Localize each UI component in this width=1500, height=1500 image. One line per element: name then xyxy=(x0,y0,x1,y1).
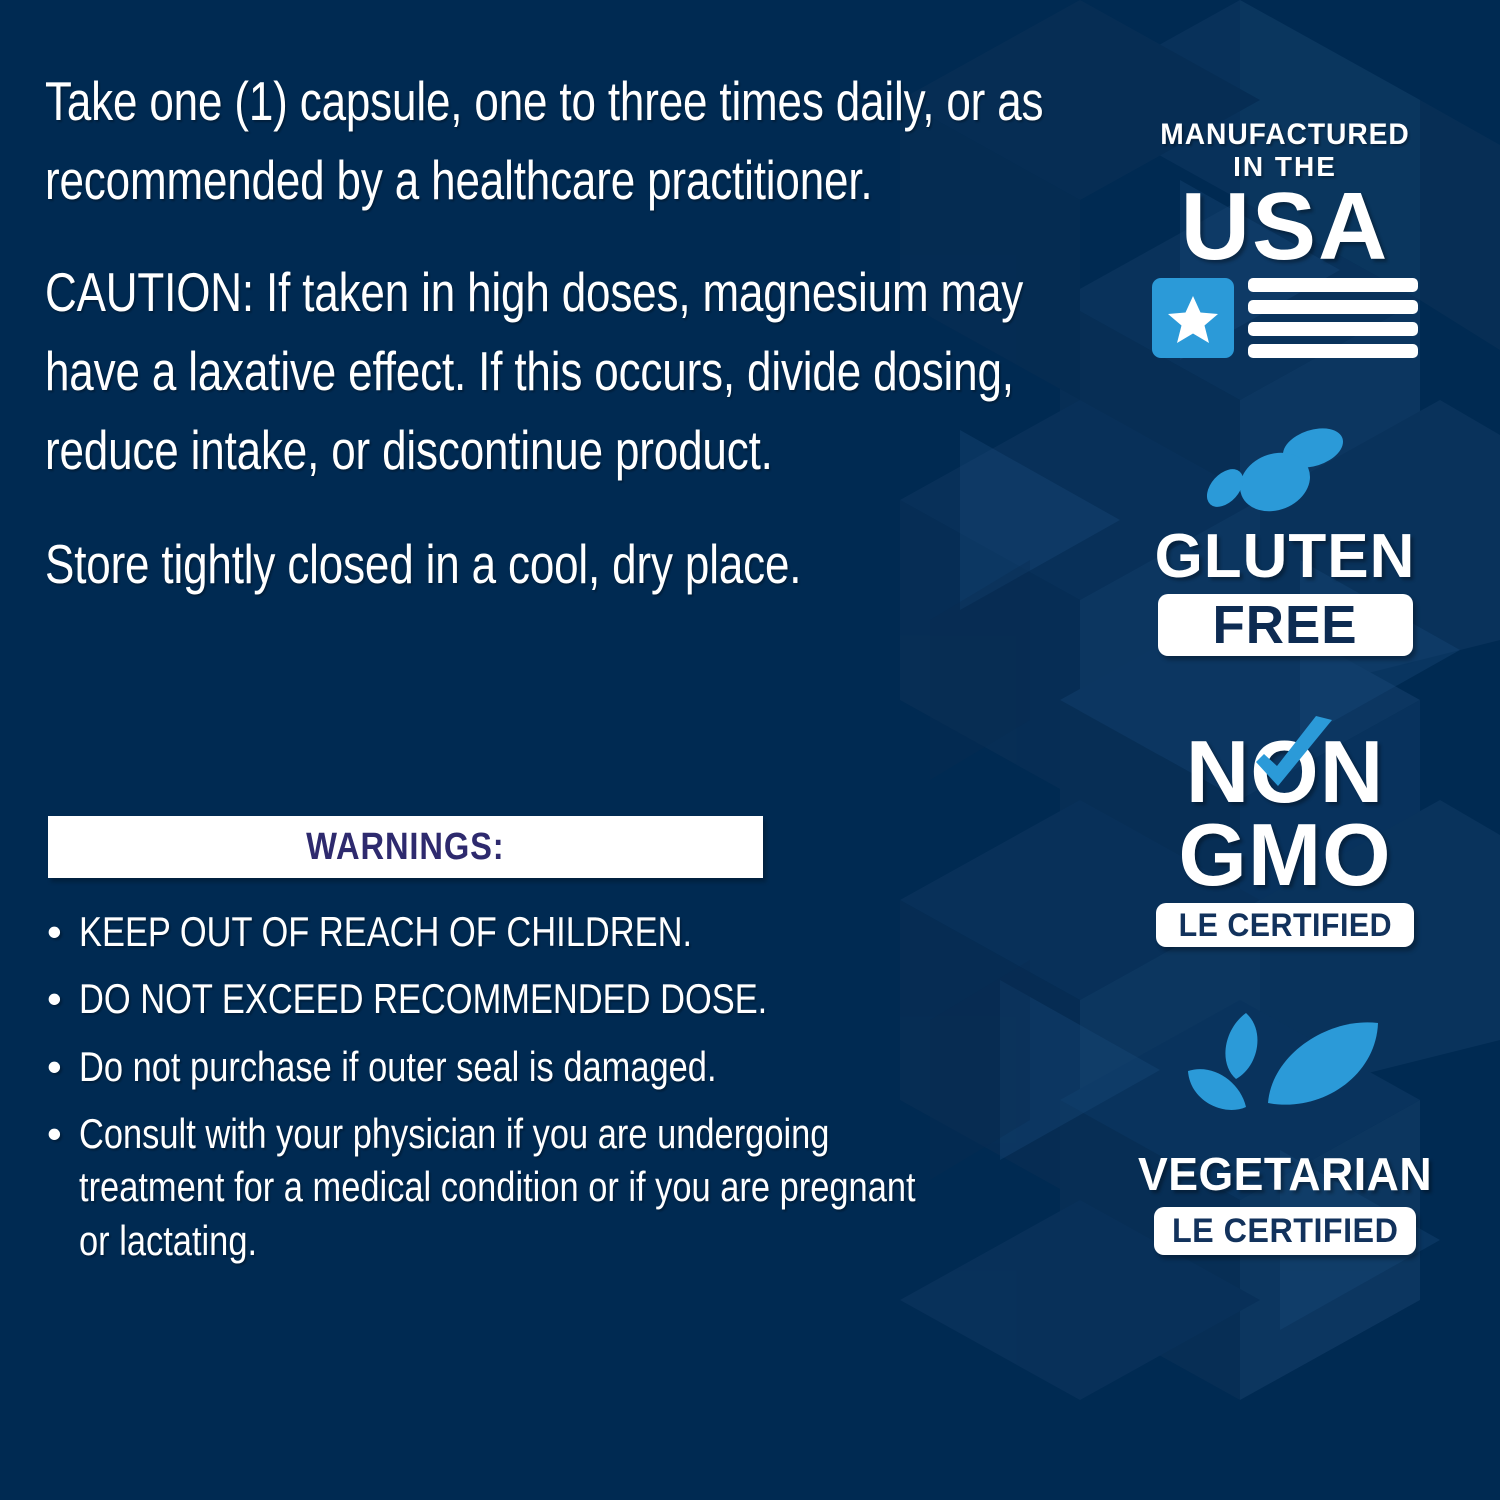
non-gmo-pill: LE CERTIFIED xyxy=(1156,903,1414,947)
vegetarian-pill-label: LE CERTIFIED xyxy=(1172,1214,1398,1248)
badge-vegetarian: VEGETARIAN LE CERTIFIED xyxy=(1120,1009,1450,1255)
list-item: • KEEP OUT OF REACH OF CHILDREN. xyxy=(45,905,945,958)
vegetarian-line1: VEGETARIAN xyxy=(1125,1151,1445,1197)
warning-text: DO NOT EXCEED RECOMMENDED DOSE. xyxy=(79,972,945,1025)
directions-text-column: Take one (1) capsule, one to three times… xyxy=(45,62,1045,604)
warning-text: KEEP OUT OF REACH OF CHILDREN. xyxy=(79,905,945,958)
leaves-icon xyxy=(1120,426,1450,520)
bullet-icon: • xyxy=(47,972,62,1025)
supplement-label-panel: Take one (1) capsule, one to three times… xyxy=(0,0,1500,1500)
warning-text: Do not purchase if outer seal is damaged… xyxy=(79,1040,945,1093)
bullet-icon: • xyxy=(47,1107,62,1160)
certification-badge-column: MANUFACTURED IN THE USA xyxy=(1120,120,1450,1255)
warnings-banner: WARNINGS: xyxy=(48,816,763,878)
badge-gluten-free: GLUTEN FREE xyxy=(1120,426,1450,656)
list-item: • Consult with your physician if you are… xyxy=(45,1107,945,1267)
badge-manufactured-in-usa: MANUFACTURED IN THE USA xyxy=(1120,120,1450,360)
warnings-banner-label: WARNINGS: xyxy=(306,826,504,869)
gluten-free-line1: GLUTEN xyxy=(1120,526,1450,588)
storage-paragraph: Store tightly closed in a cool, dry plac… xyxy=(45,525,1045,604)
vegetarian-pill: LE CERTIFIED xyxy=(1154,1207,1416,1255)
bullet-icon: • xyxy=(47,905,62,958)
us-flag-icon xyxy=(1120,276,1450,360)
gluten-free-pill: FREE xyxy=(1158,594,1413,656)
non-gmo-line2: GMO xyxy=(1120,813,1450,897)
warnings-list: • KEEP OUT OF REACH OF CHILDREN. • DO NO… xyxy=(45,905,945,1281)
usa-badge-line3: USA xyxy=(1120,181,1450,273)
bullet-icon: • xyxy=(47,1040,62,1093)
warning-text: Consult with your physician if you are u… xyxy=(79,1107,945,1267)
badge-spacer xyxy=(1120,947,1450,1009)
leaf-trio-icon xyxy=(1120,1009,1450,1141)
checkmark-icon xyxy=(1248,714,1340,806)
non-gmo-pill-label: LE CERTIFIED xyxy=(1178,909,1391,941)
list-item: • Do not purchase if outer seal is damag… xyxy=(45,1040,945,1093)
non-gmo-line1-row: NON xyxy=(1120,730,1450,814)
gluten-free-pill-label: FREE xyxy=(1212,598,1357,652)
list-item: • DO NOT EXCEED RECOMMENDED DOSE. xyxy=(45,972,945,1025)
dosage-paragraph: Take one (1) capsule, one to three times… xyxy=(45,62,1045,219)
badge-non-gmo: NON GMO LE CERTIFIED xyxy=(1120,730,1450,947)
usa-badge-line1: MANUFACTURED xyxy=(1130,120,1440,150)
caution-paragraph: CAUTION: If taken in high doses, magnesi… xyxy=(45,253,1045,489)
badge-spacer xyxy=(1120,360,1450,426)
